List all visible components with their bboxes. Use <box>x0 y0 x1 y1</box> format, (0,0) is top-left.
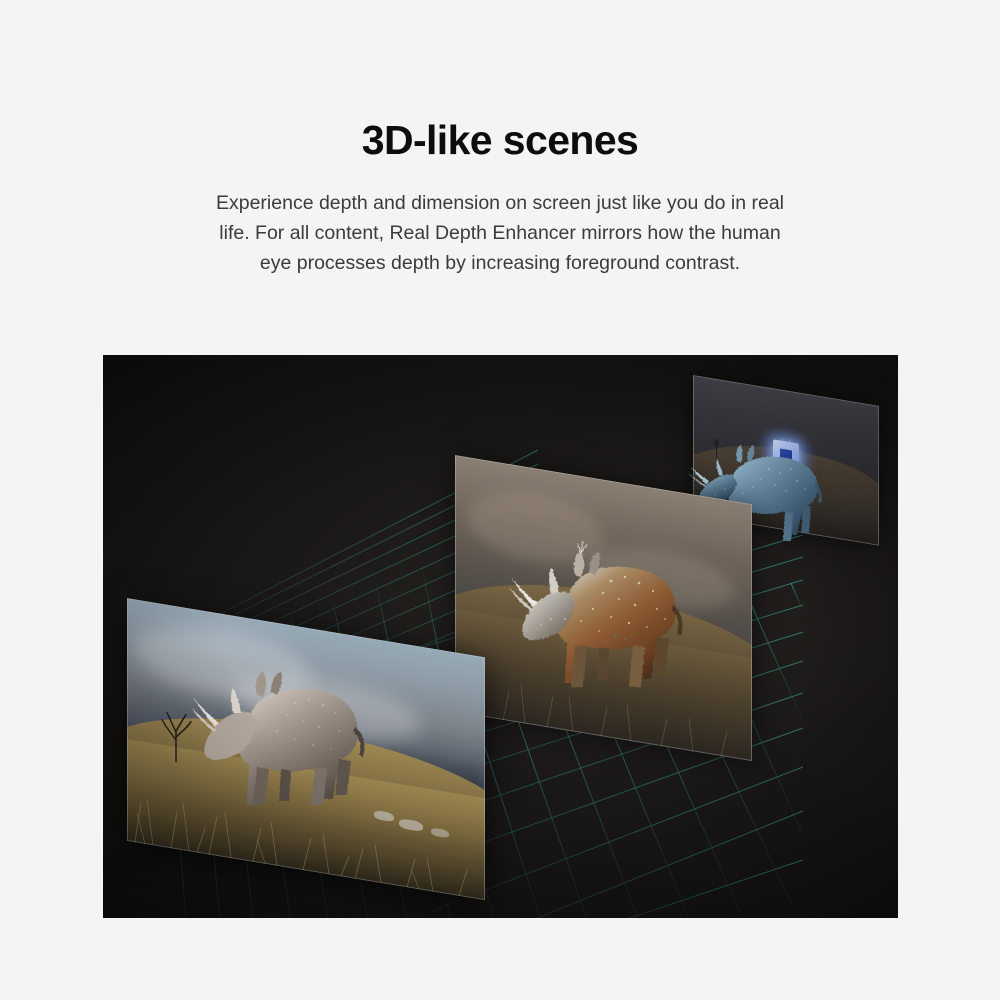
page-title: 3D-like scenes <box>0 0 1000 162</box>
rhino-mid-copper <box>507 527 703 695</box>
feature-description: Experience depth and dimension on screen… <box>170 162 830 278</box>
rhino-front-photoreal <box>191 655 387 807</box>
hero-image <box>103 355 898 918</box>
feature-text-block: 3D-like scenes Experience depth and dime… <box>0 0 1000 278</box>
description-line-1: Experience depth and dimension on screen… <box>170 188 830 218</box>
product-feature-section: 3D-like scenes Experience depth and dime… <box>0 0 1000 1000</box>
perspective-stage <box>103 355 898 918</box>
description-line-2: life. For all content, Real Depth Enhanc… <box>170 218 830 248</box>
description-line-3: eye processes depth by increasing foregr… <box>170 248 830 278</box>
